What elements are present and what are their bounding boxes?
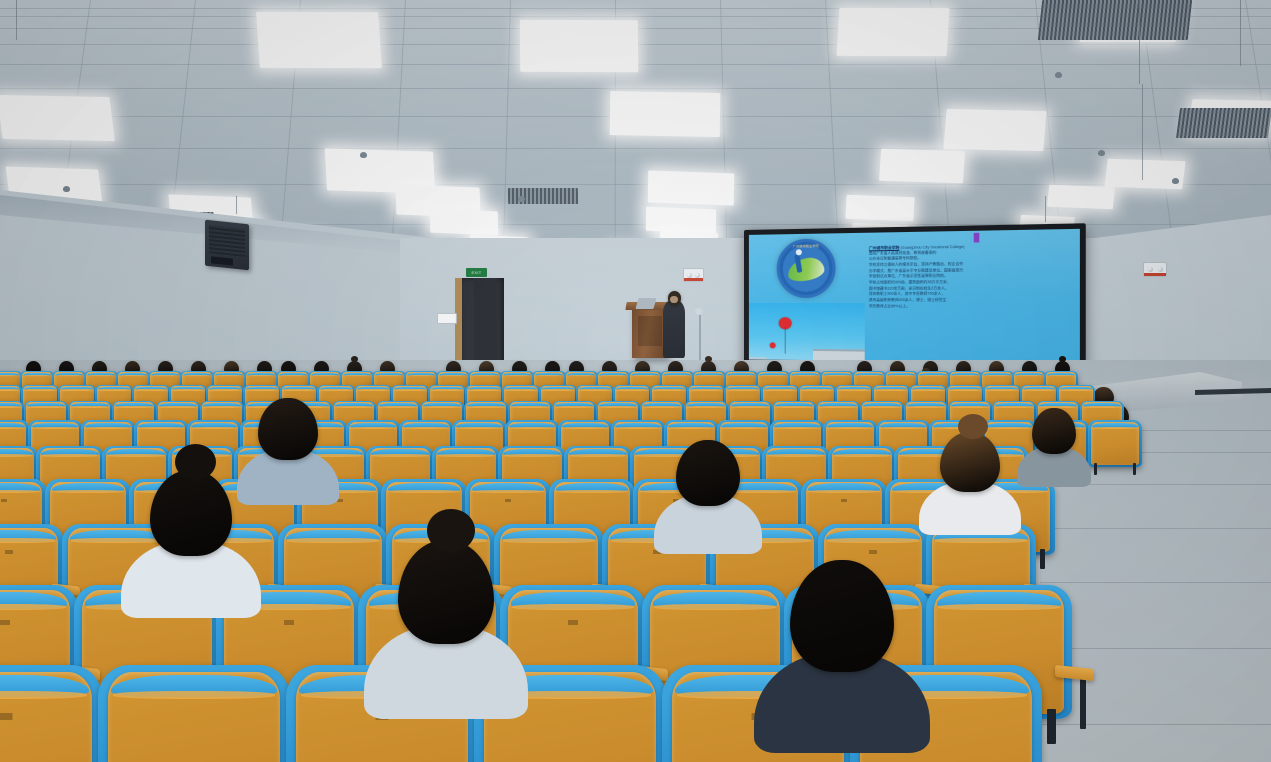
seat-edge-trim <box>191 427 236 429</box>
seat-edge-trim <box>320 389 352 391</box>
wall-speaker-icon <box>205 220 249 271</box>
hair-bun <box>427 509 475 553</box>
balloon-string <box>785 327 786 353</box>
emergency-light-label <box>684 278 703 281</box>
floor-seam <box>1040 724 1271 725</box>
seat-edge-trim <box>0 454 32 457</box>
seat-edge-trim <box>403 427 448 429</box>
wall-plaque <box>437 313 457 324</box>
ceiling-grid-line <box>0 88 1271 89</box>
seat-edge-trim <box>764 389 796 391</box>
seat-vent-holes <box>0 550 33 554</box>
ceiling-light-panel <box>1105 159 1186 190</box>
seat-edge-trim <box>556 490 627 494</box>
emergency-lamp-left <box>687 273 692 278</box>
audience-head <box>398 540 494 644</box>
seat-edge-trim <box>135 389 167 391</box>
emergency-light-label <box>1144 273 1166 276</box>
seat-edge-trim <box>880 427 925 429</box>
seat-edge-trim <box>0 538 55 543</box>
school-logo-icon: 广州城市职业学院 <box>777 238 836 298</box>
seat-leg <box>1133 463 1136 475</box>
speaker-grill <box>209 225 245 258</box>
projection-screen[interactable]: 广州城市职业学院 <box>744 223 1086 378</box>
ceiling-light-panel <box>1047 185 1115 209</box>
presentation-slide: 广州城市职业学院 <box>749 229 1080 372</box>
seat-edge-trim <box>71 406 109 408</box>
seat-edge-trim <box>85 427 130 429</box>
ac-vent <box>1176 108 1271 138</box>
ceiling-cable <box>1139 0 1140 84</box>
audience-head <box>790 560 894 672</box>
seat-edge-trim <box>0 427 25 429</box>
seat-edge-trim <box>654 604 776 610</box>
ceiling-grid-line <box>720 0 727 250</box>
smoke-detector-icon <box>360 152 367 158</box>
seat-vent-holes <box>0 713 47 720</box>
seat-edge-trim <box>32 427 77 429</box>
seat-arm-post <box>1080 677 1087 729</box>
seat-leg <box>1040 549 1045 569</box>
floor-seam <box>1040 648 1271 649</box>
ceiling-light-panel <box>648 171 734 206</box>
seat-edge-trim <box>509 427 554 429</box>
smoke-detector-icon <box>63 186 70 192</box>
seat-edge-trim <box>1060 389 1092 391</box>
seat-edge-trim <box>1023 389 1055 391</box>
presenter-face <box>670 296 678 303</box>
ceiling-grid-line <box>0 148 1271 149</box>
seat-edge-trim <box>335 406 373 408</box>
seat-edge-trim <box>907 406 945 408</box>
seat-edge-trim <box>172 389 204 391</box>
seat-edge-trim <box>949 389 981 391</box>
seat-edge-trim <box>456 427 501 429</box>
auditorium-seat[interactable] <box>0 672 92 762</box>
seat-edge-trim <box>995 406 1033 408</box>
microphone-head-icon <box>695 308 703 315</box>
ceiling-cable <box>1045 196 1046 222</box>
seat-edge-trim <box>27 406 65 408</box>
ceiling-light-panel <box>520 20 638 72</box>
logo-dot-icon <box>796 249 802 255</box>
seat-edge-trim <box>379 406 417 408</box>
seat-vent-holes <box>0 620 36 625</box>
seat-edge-trim <box>504 454 560 457</box>
ceiling-light-panel <box>943 109 1046 151</box>
seat-edge-trim <box>394 389 426 391</box>
seat-edge-trim <box>838 389 870 391</box>
seat-edge-trim <box>570 454 626 457</box>
exit-sign: EXIT <box>466 268 487 277</box>
seat-edge-trim <box>912 389 944 391</box>
ac-vent <box>1038 0 1192 40</box>
audience-head <box>150 470 232 556</box>
audience-head <box>676 440 740 506</box>
presenter-body <box>663 300 685 358</box>
seat-edge-trim <box>423 406 461 408</box>
slide-body-line: 学历教师占比85%以上。 <box>869 304 1074 310</box>
seat-vent-holes <box>826 499 862 502</box>
seat-edge-trim <box>503 538 595 543</box>
seat-edge-trim <box>0 389 19 391</box>
seat-edge-trim <box>472 490 543 494</box>
emergency-light-front <box>683 268 704 282</box>
slide-title-cn: 广州城市职业学院 <box>869 246 899 251</box>
seat-edge-trim <box>505 389 537 391</box>
seat-edge-trim <box>616 389 648 391</box>
ceiling-light-panel <box>610 91 720 137</box>
emergency-lamp-right <box>695 273 700 278</box>
seat-vent-holes <box>0 499 22 502</box>
audience-head <box>940 432 1000 492</box>
seat-edge-trim <box>113 691 275 700</box>
seat-edge-trim <box>159 406 197 408</box>
seat-edge-trim <box>834 454 890 457</box>
seat-edge-trim <box>542 389 574 391</box>
seat-edge-trim <box>138 427 183 429</box>
ceiling-grid-line <box>503 0 511 250</box>
seat-edge-trim <box>986 427 1031 429</box>
emergency-light-right <box>1143 262 1167 277</box>
seat-edge-trim <box>562 427 607 429</box>
ceiling-grid-line <box>0 184 1271 185</box>
seat-edge-trim <box>468 389 500 391</box>
hair-bun <box>175 444 216 480</box>
ceiling-light-panel <box>646 207 716 234</box>
auditorium-seat[interactable] <box>1091 422 1139 465</box>
campus-photo <box>749 303 865 368</box>
ceiling-light-panel <box>837 8 950 56</box>
slide-body-text: 是经广东省人民政府批准、教育部备案的公办全日制普通高等专科院校。学校坚持立德树人… <box>869 248 1074 310</box>
seat-edge-trim <box>42 454 98 457</box>
audience-head <box>258 398 318 460</box>
seat-vent-holes <box>849 550 896 554</box>
seat-edge-trim <box>690 389 722 391</box>
seat-edge-trim <box>24 389 56 391</box>
seat-edge-trim <box>61 389 93 391</box>
seat-edge-trim <box>775 406 813 408</box>
seat-edge-trim <box>203 406 241 408</box>
seat-edge-trim <box>668 427 713 429</box>
ceiling-cable <box>1240 0 1241 66</box>
seat-edge-trim <box>0 604 66 610</box>
seat-edge-trim <box>0 406 21 408</box>
ceiling-cable <box>1142 84 1143 180</box>
seat-edge-trim <box>1092 427 1137 429</box>
seat-edge-trim <box>643 406 681 408</box>
seat-edge-trim <box>727 389 759 391</box>
smoke-detector-icon <box>518 196 525 202</box>
seat-edge-trim <box>438 454 494 457</box>
logo-swoosh-icon <box>786 256 825 283</box>
seat-edge-trim <box>108 454 164 457</box>
seat-edge-trim <box>431 389 463 391</box>
seat-edge-trim <box>283 389 315 391</box>
microphone-stand <box>699 312 701 360</box>
seat-vent-holes <box>542 620 604 625</box>
ceiling-light-panel <box>256 12 382 68</box>
seat-edge-trim <box>721 427 766 429</box>
ceiling-light-panel <box>879 149 965 184</box>
seat-edge-trim <box>357 389 389 391</box>
emergency-lamp-right <box>1158 267 1163 272</box>
smoke-detector-icon <box>1172 178 1179 184</box>
seat-edge-trim <box>287 538 379 543</box>
seat-edge-trim <box>246 389 278 391</box>
seat-edge-trim <box>986 389 1018 391</box>
logo-area: 广州城市职业学院 <box>749 233 865 303</box>
seat-edge-trim <box>951 406 989 408</box>
seat-leg <box>1094 463 1097 475</box>
seat-edge-trim <box>827 538 919 543</box>
seat-edge-trim <box>827 427 872 429</box>
seat-edge-trim <box>98 389 130 391</box>
floor-seam <box>1040 582 1271 583</box>
emergency-lamp-left <box>1148 267 1153 272</box>
laptop-on-podium <box>635 298 656 309</box>
seat-edge-trim <box>388 490 459 494</box>
ceiling-cable <box>16 0 17 40</box>
seat-edge-trim <box>819 406 857 408</box>
seat-edge-trim <box>52 490 123 494</box>
ceiling-light-panel <box>430 209 499 236</box>
seat-edge-trim <box>935 538 1027 543</box>
seat-edge-trim <box>938 604 1060 610</box>
slide-left-column: 广州城市职业学院 <box>749 233 865 368</box>
ceiling-cable <box>236 196 237 214</box>
speaker-woofer <box>211 256 233 265</box>
seat-edge-trim <box>511 406 549 408</box>
seat-vent-holes <box>490 499 526 502</box>
seat-edge-trim <box>372 454 428 457</box>
seat-edge-trim <box>599 406 637 408</box>
seat-edge-trim <box>1083 406 1121 408</box>
ceiling-light-panel <box>0 95 115 141</box>
seat-edge-trim <box>209 389 241 391</box>
red-balloon-small <box>769 342 775 348</box>
seat-edge-trim <box>801 389 833 391</box>
ceiling-light-panel <box>845 195 914 222</box>
slide-title-en: (Guangzhou City Vocational College) <box>900 245 964 250</box>
logo-ring-text: 广州城市职业学院 <box>780 244 833 249</box>
floor-seam <box>1040 528 1271 529</box>
audience-head <box>1032 408 1076 454</box>
seat-edge-trim <box>863 406 901 408</box>
smoke-detector-icon <box>1098 150 1105 156</box>
seat-edge-trim <box>731 406 769 408</box>
seat-edge-trim <box>653 389 685 391</box>
hair-bun <box>958 414 988 439</box>
seat-edge-trim <box>115 406 153 408</box>
seat-vent-holes <box>258 620 320 625</box>
seat-edge-trim <box>512 604 634 610</box>
slide-text-column: 广州城市职业学院 (Guangzhou City Vocational Coll… <box>865 229 1080 372</box>
screen-bezel: 广州城市职业学院 <box>744 223 1086 378</box>
seat-edge-trim <box>579 389 611 391</box>
seat-edge-trim <box>467 406 505 408</box>
seat-edge-trim <box>875 389 907 391</box>
lecture-hall-photo: EXIT 广州城市职业学院 <box>0 0 1271 762</box>
seat-edge-trim <box>615 427 660 429</box>
seat-edge-trim <box>350 427 395 429</box>
auditorium-seat[interactable] <box>108 672 280 762</box>
smoke-detector-icon <box>1055 72 1062 78</box>
seat-leg <box>1047 709 1056 744</box>
seat-edge-trim <box>808 490 879 494</box>
seat-edge-trim <box>71 538 163 543</box>
seat-edge-trim <box>768 454 824 457</box>
seat-edge-trim <box>774 427 819 429</box>
seat-edge-trim <box>687 406 725 408</box>
seat-edge-trim <box>555 406 593 408</box>
podium-front-panel <box>638 316 662 346</box>
purple-marker-icon <box>974 233 980 243</box>
